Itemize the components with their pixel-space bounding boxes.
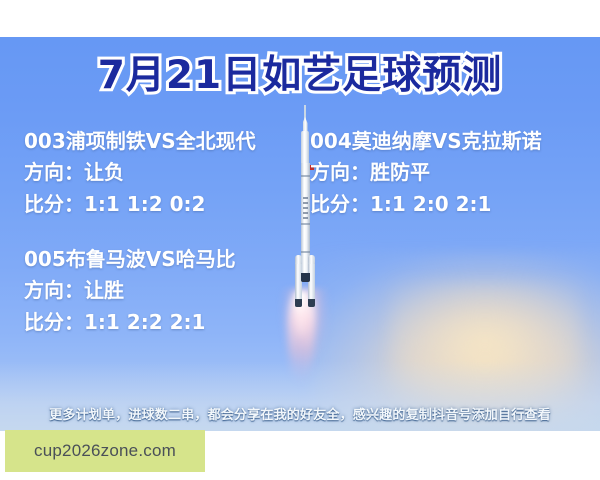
direction-label: 方向： <box>24 160 84 184</box>
match-title: 004莫迪纳摩VS克拉斯诺 <box>310 126 542 156</box>
match-title: 003浦项制铁VS全北现代 <box>24 126 256 156</box>
score-value: 1:1 2:0 2:1 <box>370 192 491 216</box>
match-title: 005布鲁马波VS哈马比 <box>24 244 236 274</box>
watermark-banner: cup2026zone.com <box>5 430 205 472</box>
rocket-booster-right-cap <box>308 255 315 264</box>
rocket-band-2 <box>301 223 310 225</box>
score-value: 1:1 2:2 2:1 <box>84 310 205 334</box>
rocket-body-lettering <box>303 197 308 219</box>
direction-label: 方向： <box>24 278 84 302</box>
footer-caption: 更多计划单，进球数二串，都会分享在我的好友全，感兴趣的复制抖音号添加自行查看 <box>0 404 600 423</box>
score-row: 比分：1:1 1:2 0:2 <box>24 188 256 220</box>
rocket-booster-left-nozzle <box>295 299 302 307</box>
score-label: 比分： <box>24 192 84 216</box>
page-title: 7月21日如艺足球预测 <box>0 56 600 95</box>
rocket-band-1 <box>301 175 310 177</box>
prediction-block-005: 005布鲁马波VS哈马比 方向：让胜 比分：1:1 2:2 2:1 <box>24 244 236 339</box>
rocket-booster-left-cap <box>295 255 302 264</box>
screenshot-root: 7月21日如艺足球预测 003浦项制铁VS全北现代 方向：让负 比分：1:1 1… <box>0 0 600 480</box>
prediction-block-003: 003浦项制铁VS全北现代 方向：让负 比分：1:1 1:2 0:2 <box>24 126 256 221</box>
direction-value: 胜防平 <box>370 160 430 184</box>
rocket-band-3 <box>301 251 310 253</box>
direction-label: 方向： <box>310 160 370 184</box>
direction-row: 方向：胜防平 <box>310 156 542 188</box>
score-label: 比分： <box>24 310 84 334</box>
rocket-booster-right-nozzle <box>308 299 315 307</box>
direction-row: 方向：让胜 <box>24 274 236 306</box>
prediction-block-004: 004莫迪纳摩VS克拉斯诺 方向：胜防平 比分：1:1 2:0 2:1 <box>310 126 542 221</box>
score-row: 比分：1:1 2:0 2:1 <box>310 188 542 220</box>
rocket-upper-stage <box>301 131 309 165</box>
watermark-text: cup2026zone.com <box>34 441 176 461</box>
top-white-band <box>0 0 600 37</box>
direction-row: 方向：让负 <box>24 156 256 188</box>
score-value: 1:1 1:2 0:2 <box>84 192 205 216</box>
score-row: 比分：1:1 2:2 2:1 <box>24 306 236 338</box>
score-label: 比分： <box>310 192 370 216</box>
direction-value: 让负 <box>84 160 124 184</box>
direction-value: 让胜 <box>84 278 124 302</box>
rocket-core-nozzle <box>301 273 310 282</box>
